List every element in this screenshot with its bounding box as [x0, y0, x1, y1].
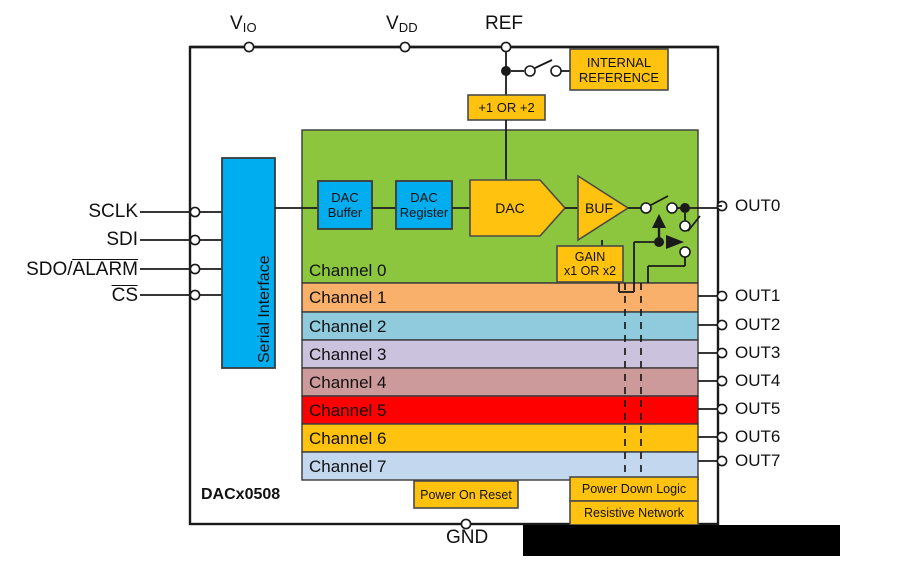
pin-out2	[717, 320, 726, 329]
pin-label-sdi: SDI	[106, 230, 138, 249]
pin-out1	[717, 291, 726, 300]
serial-input-pins	[140, 207, 222, 299]
output-label-out2: OUT2	[735, 316, 780, 333]
dac-register-label: DAC Register	[396, 181, 452, 229]
channel-label-3: Channel 3	[309, 346, 387, 363]
serial-interface-label: Serial Interface	[256, 255, 274, 363]
output-label-out3: OUT3	[735, 344, 780, 361]
power-on-reset-label: Power On Reset	[414, 481, 518, 508]
output-label-out6: OUT6	[735, 428, 780, 445]
pin-vdd	[400, 42, 409, 51]
resistive-network-label: Resistive Network	[570, 501, 698, 525]
channel-label-6: Channel 6	[309, 430, 387, 447]
pin-sclk	[190, 207, 199, 216]
pin-out6	[717, 432, 726, 441]
channel-label-5: Channel 5	[309, 402, 387, 419]
pin-out3	[717, 348, 726, 357]
channel-label-1: Channel 1	[309, 289, 387, 306]
pin-label-cs: CS	[112, 285, 138, 306]
pin-label-sclk: SCLK	[88, 202, 138, 221]
gain-label: GAIN x1 OR x2	[557, 246, 623, 282]
channel-label-7: Channel 7	[309, 458, 387, 475]
switch-upper-left-pin	[641, 203, 651, 213]
int-ref-switch-pin-left	[525, 66, 535, 76]
buf-label: BUF	[578, 196, 620, 220]
dac-label: DAC	[470, 196, 550, 220]
pin-out7	[717, 456, 726, 465]
pin-label-vdd: VDD	[386, 14, 418, 34]
output-label-out1: OUT1	[735, 287, 780, 304]
ref-junction-node	[501, 66, 511, 76]
output-pins-group	[698, 201, 727, 465]
out0-node	[680, 203, 690, 213]
block-diagram-canvas: .wire { stroke: #1a1a1a; stroke-width: 1…	[0, 0, 900, 584]
pin-out4	[717, 376, 726, 385]
output-label-out5: OUT5	[735, 400, 780, 417]
pin-ref	[501, 42, 510, 51]
output-label-out0: OUT0	[735, 197, 780, 214]
power-down-logic-label: Power Down Logic	[570, 477, 698, 501]
channel-label-0: Channel 0	[309, 262, 387, 279]
int-ref-switch-pin-right	[551, 66, 561, 76]
output-label-out4: OUT4	[735, 372, 780, 389]
pin-label-vio: VIO	[230, 14, 257, 34]
pin-sdo-alarm	[190, 264, 199, 273]
output-label-out7: OUT7	[735, 452, 780, 469]
internal-reference-label: INTERNAL REFERENCE	[570, 49, 668, 90]
pin-label-gnd: GND	[446, 528, 488, 547]
switch-lower-lower-pin	[680, 247, 690, 257]
channel-label-4: Channel 4	[309, 374, 387, 391]
device-name-label: DACx0508	[201, 487, 280, 503]
redaction-bar	[523, 525, 840, 556]
pin-out5	[717, 404, 726, 413]
dac-buffer-label: DAC Buffer	[318, 181, 372, 229]
ref-gain-label: +1 OR +2	[468, 95, 545, 120]
switch-upper-right-pin	[667, 203, 677, 213]
pin-label-ref: REF	[485, 14, 523, 33]
pin-sdi	[190, 235, 199, 244]
pin-cs	[190, 290, 199, 299]
pin-label-sdo-alarm: SDO/ALARM	[26, 259, 138, 280]
pin-vio	[244, 42, 253, 51]
switch-mid-node	[654, 237, 664, 247]
channel-label-2: Channel 2	[309, 318, 387, 335]
